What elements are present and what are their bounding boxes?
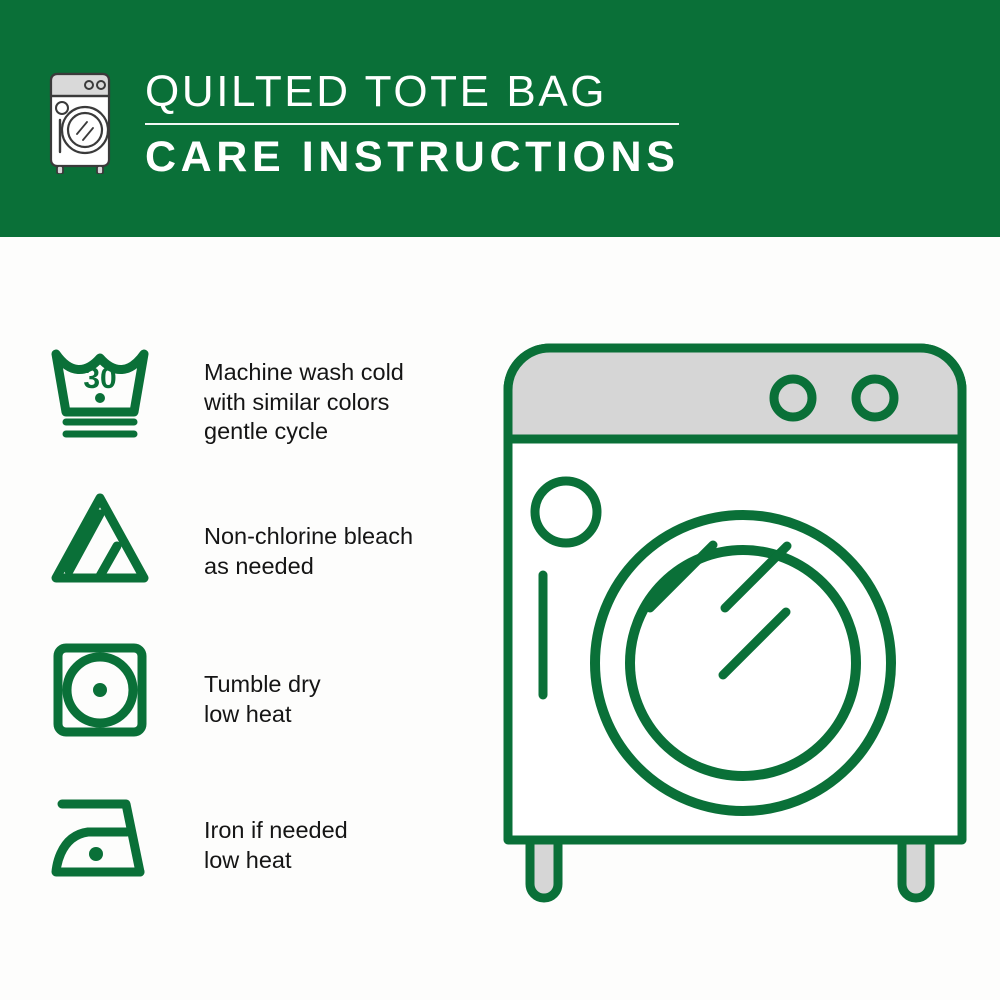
washing-machine-illustration	[490, 330, 980, 930]
care-row-tumble-dry: Tumble dry low heat	[48, 636, 468, 786]
wash-tub-30-icon: 30	[48, 340, 152, 440]
header-content: QUILTED TOTE BAG CARE INSTRUCTIONS	[45, 66, 680, 182]
care-line: low heat	[204, 700, 321, 730]
header-title-block: QUILTED TOTE BAG CARE INSTRUCTIONS	[145, 66, 680, 182]
bleach-triangle-icon	[48, 490, 152, 590]
care-line: Machine wash cold	[204, 358, 404, 388]
care-symbol-iron	[48, 786, 160, 890]
care-line: gentle cycle	[204, 417, 404, 447]
care-line: low heat	[204, 846, 348, 876]
care-line: Iron if needed	[204, 816, 348, 846]
care-line: with similar colors	[204, 388, 404, 418]
page-title: QUILTED TOTE BAG	[145, 66, 680, 118]
care-symbol-tumble-dry	[48, 636, 160, 740]
care-row-bleach: Non-chlorine bleach as needed	[48, 486, 468, 636]
care-text-tumble-dry: Tumble dry low heat	[204, 636, 321, 729]
low-heat-dot	[93, 683, 107, 697]
care-text-machine-wash: Machine wash cold with similar colors ge…	[204, 336, 404, 447]
care-line: Non-chlorine bleach	[204, 522, 413, 552]
tumble-dry-low-icon	[48, 640, 152, 740]
care-row-iron: Iron if needed low heat	[48, 786, 468, 936]
iron-low-heat-dot	[89, 847, 103, 861]
leg-left	[530, 840, 558, 898]
care-line: as needed	[204, 552, 413, 582]
care-instruction-list: 30 Machine wash cold with similar colors…	[48, 336, 468, 936]
care-line: Tumble dry	[204, 670, 321, 700]
care-symbol-machine-wash: 30	[48, 336, 160, 440]
care-text-iron: Iron if needed low heat	[204, 786, 348, 875]
care-text-bleach: Non-chlorine bleach as needed	[204, 486, 413, 581]
care-row-machine-wash: 30 Machine wash cold with similar colors…	[48, 336, 468, 486]
wash-temperature-label: 30	[83, 362, 116, 395]
washing-machine-icon	[45, 70, 119, 174]
gentle-cycle-dot	[95, 393, 105, 403]
iron-low-heat-icon	[48, 790, 152, 890]
title-divider	[145, 123, 679, 125]
leg-right	[902, 840, 930, 898]
page-subtitle: CARE INSTRUCTIONS	[145, 132, 680, 182]
header-banner: QUILTED TOTE BAG CARE INSTRUCTIONS	[0, 0, 1000, 237]
care-symbol-bleach	[48, 486, 160, 590]
